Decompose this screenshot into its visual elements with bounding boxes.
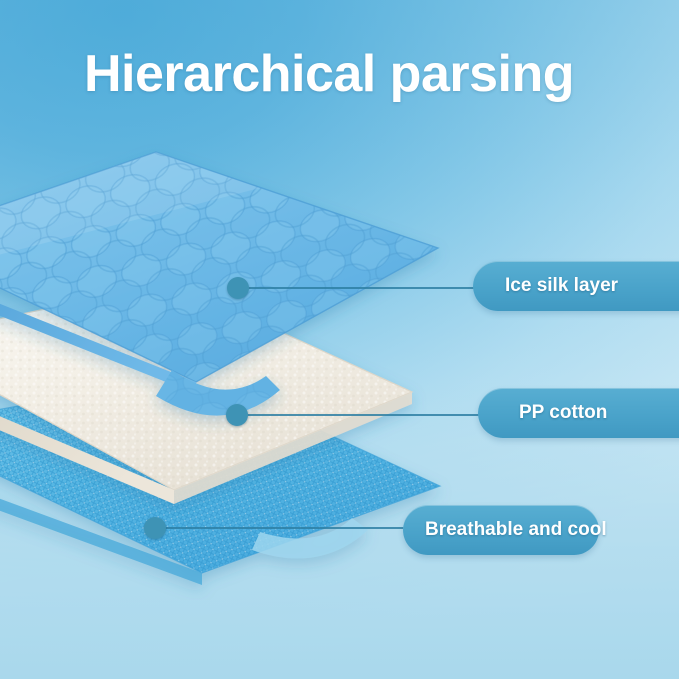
page-title: Hierarchical parsing <box>84 44 574 104</box>
label-pill-breathable[interactable]: Breathable and cool <box>403 505 599 555</box>
diagram-canvas: Ice silk layer PP cotton Breathable and … <box>0 0 679 679</box>
label-pill-pp-cotton[interactable]: PP cotton <box>478 388 679 438</box>
label-pill-ice-silk[interactable]: Ice silk layer <box>473 261 679 311</box>
connector-line-breathable <box>165 527 418 529</box>
connector-line-ice-silk <box>248 287 490 289</box>
connector-dot-breathable <box>144 517 166 539</box>
label-text-pp-cotton: PP cotton <box>519 402 607 424</box>
label-text-breathable: Breathable and cool <box>425 519 607 541</box>
connector-dot-pp-cotton <box>226 404 248 426</box>
connector-dot-ice-silk <box>227 277 249 299</box>
connector-line-pp-cotton <box>247 414 495 416</box>
label-text-ice-silk: Ice silk layer <box>505 275 618 297</box>
